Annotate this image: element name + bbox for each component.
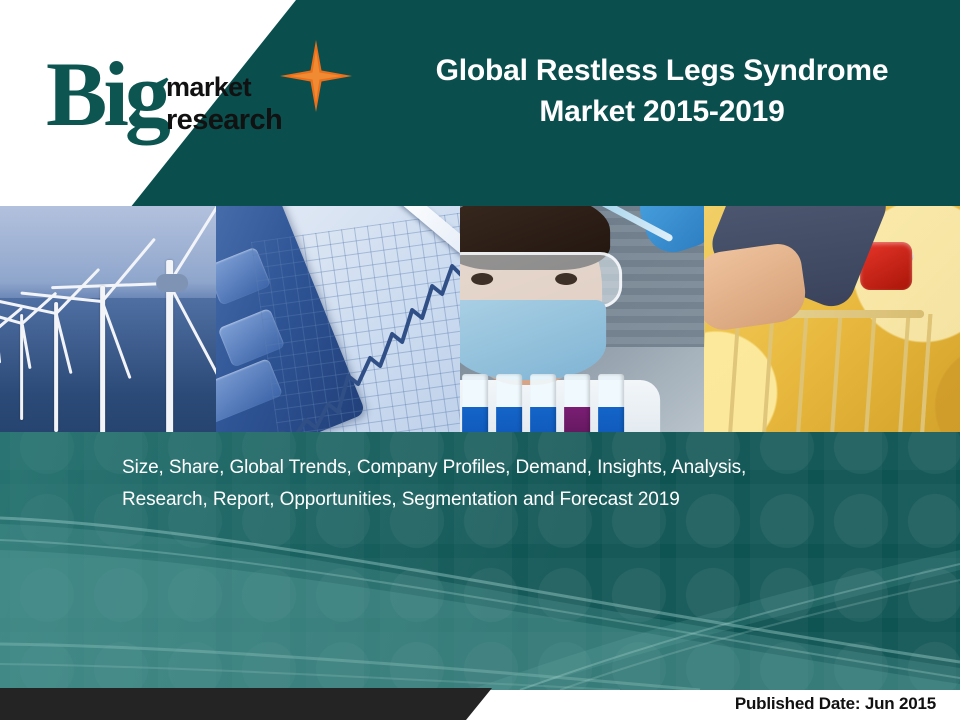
page-title-line2: Market 2015-2019 xyxy=(392,91,932,132)
image-offshore-wind-farm xyxy=(0,206,234,436)
subtitle-line2: Research, Report, Opportunities, Segment… xyxy=(122,484,882,516)
footer-bar xyxy=(0,688,520,720)
image-financial-chart-calculator: 145 123.7414013513025 xyxy=(216,206,478,436)
page-title-line1: Global Restless Legs Syndrome xyxy=(392,50,932,91)
logo-word-research: research xyxy=(166,106,282,135)
photo-strip: 145 123.7414013513025 xyxy=(0,206,960,436)
subtitle-text: Size, Share, Global Trends, Company Prof… xyxy=(122,452,882,516)
published-date: Published Date: Jun 2015 xyxy=(735,694,936,714)
logo-word-market: market xyxy=(166,74,251,101)
photo-panel-financial-chart: 145 123.7414013513025 xyxy=(216,206,478,436)
photo-panel-lab-scientist xyxy=(460,206,722,436)
page-title: Global Restless Legs Syndrome Market 201… xyxy=(392,50,932,132)
logo-word-big: Big xyxy=(46,48,167,140)
photo-panel-shopping-cart xyxy=(704,206,960,436)
four-point-star-icon xyxy=(278,38,354,114)
image-shopping-cart-grocery xyxy=(704,206,960,436)
subtitle-line1: Size, Share, Global Trends, Company Prof… xyxy=(122,452,882,484)
image-lab-scientist-pipette xyxy=(460,206,722,436)
brand-logo[interactable]: Big market research xyxy=(46,46,316,156)
report-cover-page: Global Restless Legs Syndrome Market 201… xyxy=(0,0,960,720)
photo-panel-offshore-wind-farm xyxy=(0,206,234,436)
